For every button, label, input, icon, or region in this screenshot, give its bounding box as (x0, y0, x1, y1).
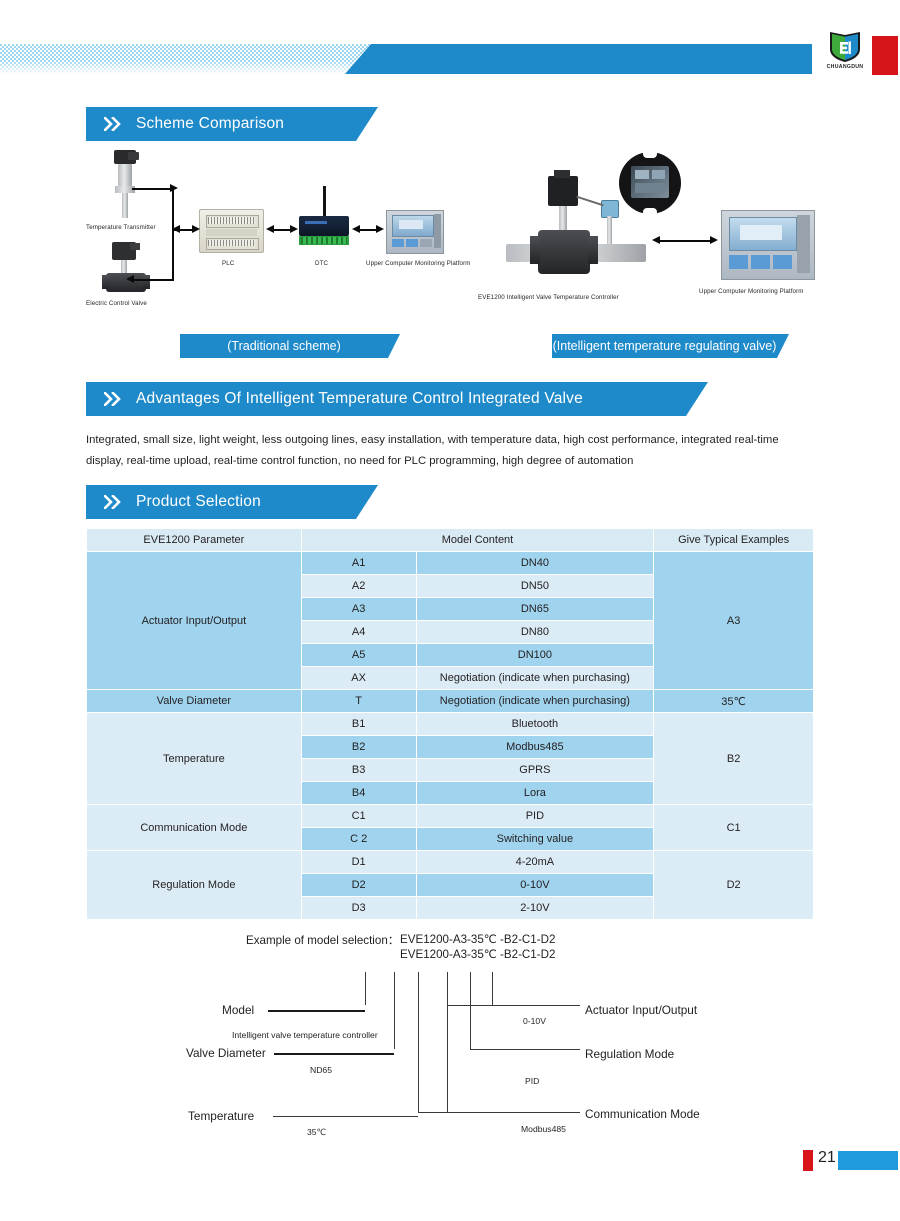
label-eve1200-valve: EVE1200 Intelligent Valve Temperature Co… (478, 294, 619, 301)
table-content-cell: Negotiation (indicate when purchasing) (416, 667, 654, 690)
eve1200-display-closeup (619, 152, 681, 214)
arrowhead-plc-out (266, 225, 274, 233)
table-code-cell: A1 (301, 552, 416, 575)
electric-control-valve-graphic (102, 242, 150, 294)
bus-vertical-line (172, 188, 174, 280)
callout-line-model (268, 1010, 365, 1012)
table-example-cell-0: A3 (654, 552, 814, 690)
label-plc: PLC (222, 260, 234, 267)
callout-tick-model (365, 972, 366, 1005)
product-selection-table: EVE1200 ParameterModel ContentGive Typic… (86, 528, 814, 920)
table-content-cell: DN50 (416, 575, 654, 598)
table-row: TemperatureB1BluetoothB2 (87, 713, 814, 736)
scheme-tag-traditional: (Traditional scheme) (180, 334, 388, 358)
brand-logo: CHUANGDUN (822, 30, 868, 78)
model-example-code-line-2: EVE1200-A3-35℃ -B2-C1-D2 (400, 947, 555, 961)
table-code-cell: T (301, 690, 416, 713)
section-banner-scheme-comparison: Scheme Comparison (86, 107, 356, 141)
callout-label-valve-diameter: Valve Diameter (186, 1046, 266, 1060)
double-chevron-icon (104, 495, 124, 509)
callout-value-actuator: 0-10V (523, 1016, 546, 1026)
callout-value-regulation: PID (525, 1076, 539, 1086)
callout-label-regulation: Regulation Mode (585, 1047, 674, 1061)
arrowhead-dtc-in (290, 225, 298, 233)
table-parameter-cell-3: Communication Mode (87, 805, 302, 851)
table-content-cell: 4-20mA (416, 851, 654, 874)
arrowhead-dtc-out (352, 225, 360, 233)
table-code-cell: A5 (301, 644, 416, 667)
table-row: Valve DiameterTNegotiation (indicate whe… (87, 690, 814, 713)
table-row: Regulation ModeD14-20mAD2 (87, 851, 814, 874)
callout-tick-temperature (418, 972, 419, 1112)
section-banner-label: Product Selection (136, 493, 261, 511)
arrowhead-valve (126, 275, 134, 283)
arrowhead-valve-out (652, 236, 660, 244)
double-chevron-icon (104, 117, 124, 131)
table-row: Actuator Input/OutputA1DN40A3 (87, 552, 814, 575)
shield-icon (828, 30, 862, 63)
callout-tick-valve-diameter (394, 972, 395, 1049)
table-code-cell: D1 (301, 851, 416, 874)
double-chevron-icon (104, 392, 124, 406)
table-code-cell: D2 (301, 874, 416, 897)
table-content-cell: Negotiation (indicate when purchasing) (416, 690, 654, 713)
label-dtc: DTC (315, 260, 328, 267)
label-upper-computer-right: Upper Computer Monitoring Platform (699, 288, 804, 295)
arrowhead-plc-in (192, 225, 200, 233)
header-red-block (872, 36, 898, 75)
brand-logo-caption: CHUANGDUN (822, 64, 868, 70)
section-banner-product-selection: Product Selection (86, 485, 356, 519)
callout-line-actuator (447, 1005, 580, 1006)
table-row: Communication ModeC1PIDC1 (87, 805, 814, 828)
table-content-cell: GPRS (416, 759, 654, 782)
footer-page-number: 21 (818, 1149, 836, 1167)
callout-value-model: Intelligent valve temperature controller (232, 1030, 378, 1040)
table-code-cell: B4 (301, 782, 416, 805)
table-code-cell: C 2 (301, 828, 416, 851)
table-code-cell: B3 (301, 759, 416, 782)
table-content-cell: 2-10V (416, 897, 654, 920)
page-header-band (0, 44, 900, 74)
callout-line-valve-diameter (274, 1053, 394, 1055)
arrow-bus-to-valve (130, 279, 174, 281)
table-parameter-cell-1: Valve Diameter (87, 690, 302, 713)
callout-value-valve-diameter: ND65 (310, 1065, 332, 1075)
arrowhead-platform-right-in (710, 236, 718, 244)
temperature-transmitter-graphic (108, 150, 142, 218)
footer-red-block (803, 1150, 813, 1171)
callout-tick-communication (492, 972, 493, 1005)
table-code-cell: D3 (301, 897, 416, 920)
table-content-cell: Lora (416, 782, 654, 805)
table-code-cell: A3 (301, 598, 416, 621)
callout-line-temperature (273, 1116, 418, 1117)
table-code-cell: A4 (301, 621, 416, 644)
table-content-cell: DN100 (416, 644, 654, 667)
table-parameter-cell-0: Actuator Input/Output (87, 552, 302, 690)
table-code-cell: B1 (301, 713, 416, 736)
arrow-transmitter-to-bus (132, 188, 172, 190)
table-content-cell: DN80 (416, 621, 654, 644)
table-parameter-cell-2: Temperature (87, 713, 302, 805)
table-example-cell-3: C1 (654, 805, 814, 851)
callout-tick-regulation (470, 972, 471, 1049)
callout-line-regulation (470, 1049, 580, 1050)
header-blue-bar (345, 44, 812, 74)
scheme-tag-intelligent: (Intelligent temperature regulating valv… (552, 334, 777, 358)
advantages-paragraph: Integrated, small size, light weight, le… (86, 430, 814, 472)
callout-label-communication: Communication Mode (585, 1107, 700, 1121)
callout-line-communication (418, 1112, 580, 1113)
arrowhead-bus-in (172, 225, 180, 233)
label-temperature-transmitter: Temperature Transmitter (86, 224, 156, 231)
table-header-cell-0: EVE1200 Parameter (87, 529, 302, 552)
footer-blue-block (838, 1151, 898, 1170)
table-code-cell: A2 (301, 575, 416, 598)
table-content-cell: 0-10V (416, 874, 654, 897)
section-banner-label: Advantages Of Intelligent Temperature Co… (136, 390, 583, 408)
model-example-code-line-1: EVE1200-A3-35℃ -B2-C1-D2 (400, 932, 555, 946)
label-electric-control-valve: Electric Control Valve (86, 300, 147, 307)
callout-label-temperature: Temperature (188, 1109, 254, 1123)
section-banner-label: Scheme Comparison (136, 115, 284, 133)
table-header-cell-1: Model Content (301, 529, 653, 552)
table-code-cell: B2 (301, 736, 416, 759)
callout-tick-actuator (447, 972, 448, 1112)
section-banner-advantages: Advantages Of Intelligent Temperature Co… (86, 382, 686, 416)
table-code-cell: AX (301, 667, 416, 690)
callout-label-model: Model (222, 1003, 254, 1017)
callout-value-temperature: 35℃ (307, 1127, 326, 1138)
table-example-cell-4: D2 (654, 851, 814, 920)
table-content-cell: DN40 (416, 552, 654, 575)
arrow-valve-to-platform (656, 240, 714, 242)
table-content-cell: DN65 (416, 598, 654, 621)
table-content-cell: Bluetooth (416, 713, 654, 736)
callout-label-actuator: Actuator Input/Output (585, 1003, 697, 1017)
plc-graphic (199, 209, 264, 253)
table-content-cell: Modbus485 (416, 736, 654, 759)
table-header-row: EVE1200 ParameterModel ContentGive Typic… (87, 529, 814, 552)
callout-value-communication: Modbus485 (521, 1124, 566, 1134)
upper-computer-platform-graphic-right (721, 210, 815, 280)
label-upper-computer-left: Upper Computer Monitoring Platform (366, 260, 471, 267)
upper-computer-platform-graphic-left (386, 210, 444, 254)
model-example-title: Example of model selection： (246, 932, 399, 948)
arrowhead-platform-in (376, 225, 384, 233)
table-header-cell-2: Give Typical Examples (654, 529, 814, 552)
table-content-cell: PID (416, 805, 654, 828)
table-example-cell-2: B2 (654, 713, 814, 805)
dtc-graphic (296, 186, 351, 251)
table-content-cell: Switching value (416, 828, 654, 851)
table-example-cell-1: 35℃ (654, 690, 814, 713)
table-parameter-cell-4: Regulation Mode (87, 851, 302, 920)
table-code-cell: C1 (301, 805, 416, 828)
